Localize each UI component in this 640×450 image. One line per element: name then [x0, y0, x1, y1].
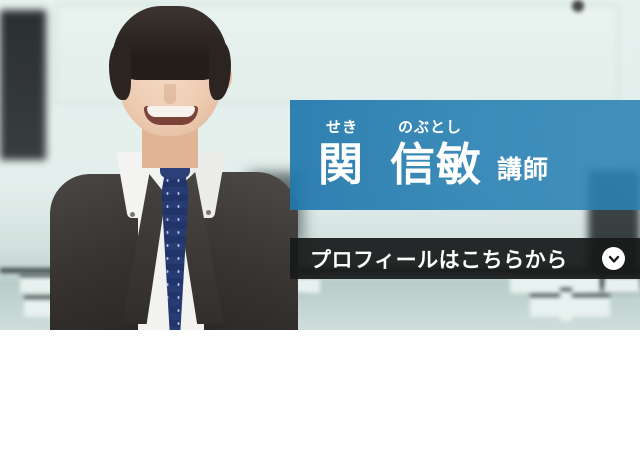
teeth	[147, 106, 195, 117]
furigana-surname: せき	[326, 116, 358, 137]
mouth	[144, 106, 198, 125]
jacket-button-left	[130, 212, 135, 217]
hair-side-left	[109, 44, 131, 100]
instructor-name-banner: せき のぶとし 関 信敏 講師	[290, 100, 640, 210]
instructor-title: 講師	[497, 152, 549, 188]
instructor-profile-banner: せき のぶとし 関 信敏 講師 プロフィールはこちらから 司法書士試験の勉強はと…	[0, 0, 640, 450]
instructor-photo: せき のぶとし 関 信敏 講師 プロフィールはこちらから	[0, 0, 640, 330]
instructor-givenname: 信敏	[390, 138, 482, 192]
whiteboard-knob	[572, 0, 584, 12]
instructor-message: 司法書士試験の勉強はとても楽しいです。 今まで知らなかったことを学ぶのはワクワク…	[0, 330, 640, 450]
jacket-button-right	[206, 210, 211, 215]
instructor-figure	[30, 6, 298, 330]
chevron-down-circle-icon[interactable]	[602, 247, 625, 270]
furigana-givenname: のぶとし	[398, 116, 462, 137]
furigana-row: せき のぶとし	[290, 116, 640, 138]
nose	[164, 84, 176, 104]
profile-link-label: プロフィールはこちらから	[310, 244, 568, 274]
instructor-surname: 関	[318, 138, 363, 192]
hair-side-right	[209, 42, 231, 100]
name-row: 関 信敏 講師	[290, 138, 640, 198]
profile-link-bar[interactable]: プロフィールはこちらから	[290, 238, 640, 279]
